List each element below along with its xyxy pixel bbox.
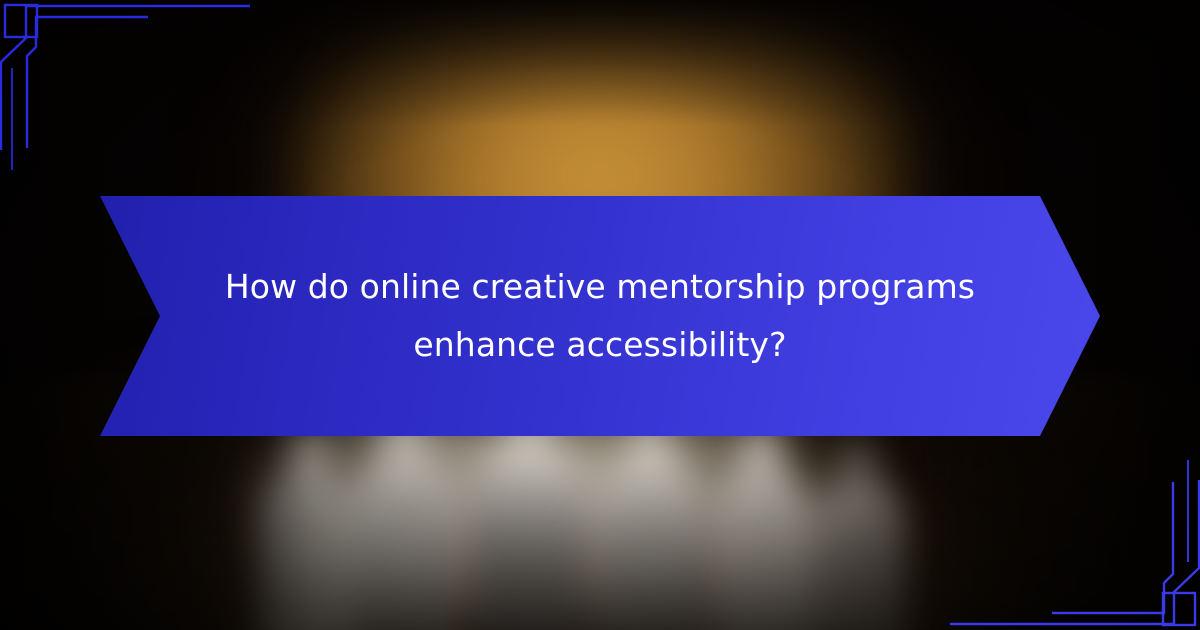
banner-headline-line-1: How do online creative mentorship progra…: [225, 259, 975, 315]
banner-headline-line-2: enhance accessibility?: [413, 317, 786, 373]
banner-text-block: How do online creative mentorship progra…: [100, 196, 1100, 436]
question-banner: How do online creative mentorship progra…: [100, 196, 1100, 436]
question-banner-card: How do online creative mentorship progra…: [0, 0, 1200, 630]
